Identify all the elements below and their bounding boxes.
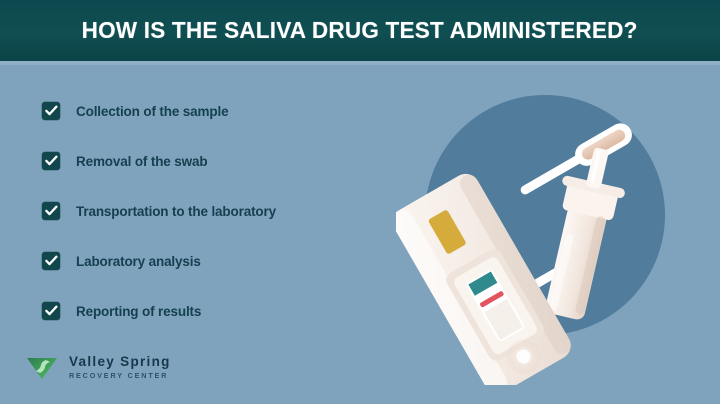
header-bar: HOW IS THE SALIVA DRUG TEST ADMINISTERED… xyxy=(0,0,720,61)
logo-name: Valley Spring xyxy=(69,354,171,369)
list-item: Collection of the sample xyxy=(42,98,392,124)
list-item: Removal of the swab xyxy=(42,148,392,174)
list-item-label: Reporting of results xyxy=(76,304,201,319)
checkbox-checked-icon xyxy=(42,102,60,120)
list-item: Laboratory analysis xyxy=(42,248,392,274)
logo-text-block: Valley Spring RECOVERY CENTER xyxy=(69,354,171,381)
checkbox-checked-icon xyxy=(42,302,60,320)
infographic-root: HOW IS THE SALIVA DRUG TEST ADMINISTERED… xyxy=(0,0,720,404)
page-title: HOW IS THE SALIVA DRUG TEST ADMINISTERED… xyxy=(82,17,638,44)
list-item-label: Laboratory analysis xyxy=(76,254,201,269)
checkbox-checked-icon xyxy=(42,202,60,220)
checkbox-checked-icon xyxy=(42,152,60,170)
collection-tube xyxy=(532,142,633,324)
saliva-drug-test-kit-illustration xyxy=(396,85,696,385)
list-item-label: Transportation to the laboratory xyxy=(76,204,276,219)
brand-logo[interactable]: Valley Spring RECOVERY CENTER xyxy=(24,352,171,382)
list-item: Transportation to the laboratory xyxy=(42,198,392,224)
logo-subtitle: RECOVERY CENTER xyxy=(69,370,171,381)
checklist: Collection of the sample Removal of the … xyxy=(42,98,392,324)
list-item: Reporting of results xyxy=(42,298,392,324)
checkbox-checked-icon xyxy=(42,252,60,270)
valley-spring-chevron-logo-icon xyxy=(24,352,60,382)
list-item-label: Collection of the sample xyxy=(76,104,228,119)
list-item-label: Removal of the swab xyxy=(76,154,207,169)
